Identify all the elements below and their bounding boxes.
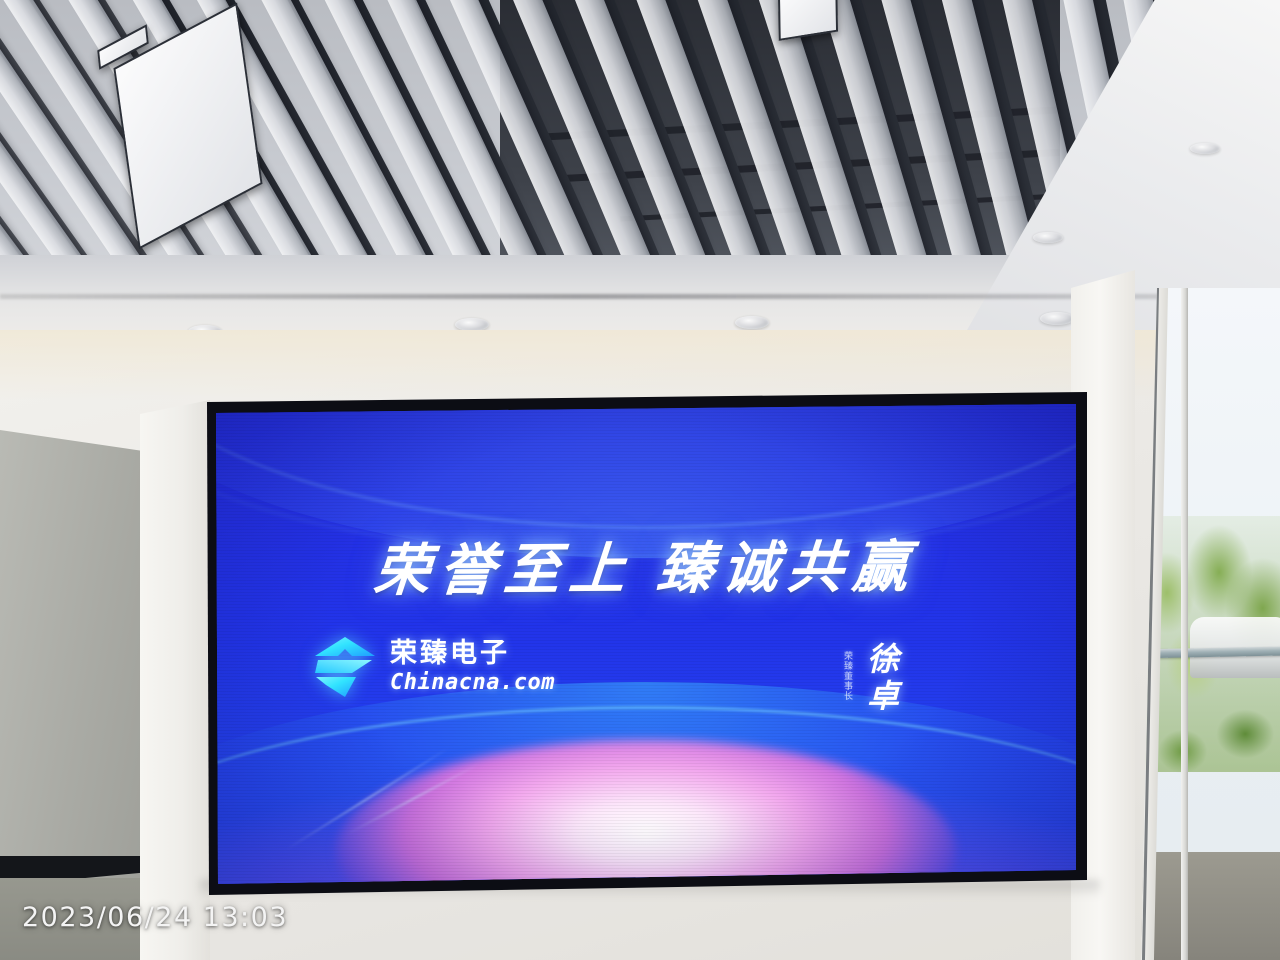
doorway-jamb [140,400,210,960]
signature-name: 徐卓 [858,642,904,716]
window-ground [1135,852,1280,960]
screen-slogan: 荣誉至上 臻诚共赢 [216,521,1076,608]
window-glazing [1135,288,1280,960]
brand-name-cn: 荣臻电子 [390,640,555,667]
window-shrubs [1141,664,1280,839]
led-video-wall[interactable]: 荣誉至上 臻诚共赢 [216,404,1076,884]
chairman-signature: 荣臻董事长 徐卓 [841,642,904,716]
signature-title: 荣臻董事长 [841,651,854,701]
recessed-downlight-icon [1033,232,1063,243]
brand-lockup: 荣臻电子 Chinacna.com [312,636,555,698]
screen-content: 荣誉至上 臻诚共赢 [216,404,1076,884]
recessed-downlight-icon [1190,143,1220,154]
window-mullion [1181,288,1188,960]
recessed-downlight-icon [1040,312,1074,325]
brand-name-en: Chinacna.com [390,672,555,694]
recessed-downlight-icon [735,316,769,329]
photo-timestamp: 2023/06/24 13:03 [22,902,288,933]
brand-text: 荣臻电子 Chinacna.com [390,640,555,694]
chinacna-logo-icon [312,636,378,698]
photograph: 荣誉至上 臻诚共赢 [0,0,1280,960]
